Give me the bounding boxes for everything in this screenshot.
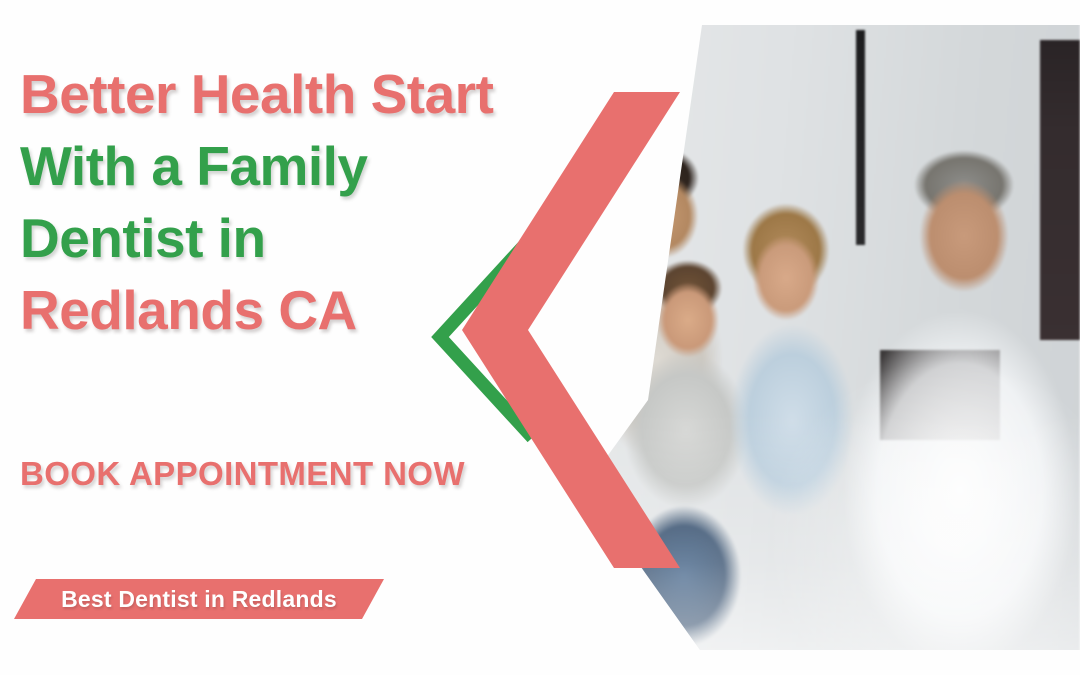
headline-line-1: Better Health Start (20, 58, 620, 130)
page-title: Better Health Start With a Family Dentis… (20, 58, 620, 346)
headline-line-3: Dentist in (20, 202, 620, 274)
badge-label: Best Dentist in Redlands (14, 579, 384, 619)
headline-line-2: With a Family (20, 130, 620, 202)
headline-line-4: Redlands CA (20, 274, 620, 346)
book-appointment-cta[interactable]: BOOK APPOINTMENT NOW (20, 455, 465, 493)
dental-ad-banner: Better Health Start With a Family Dentis… (0, 0, 1080, 675)
status-badge: Best Dentist in Redlands (14, 579, 384, 619)
